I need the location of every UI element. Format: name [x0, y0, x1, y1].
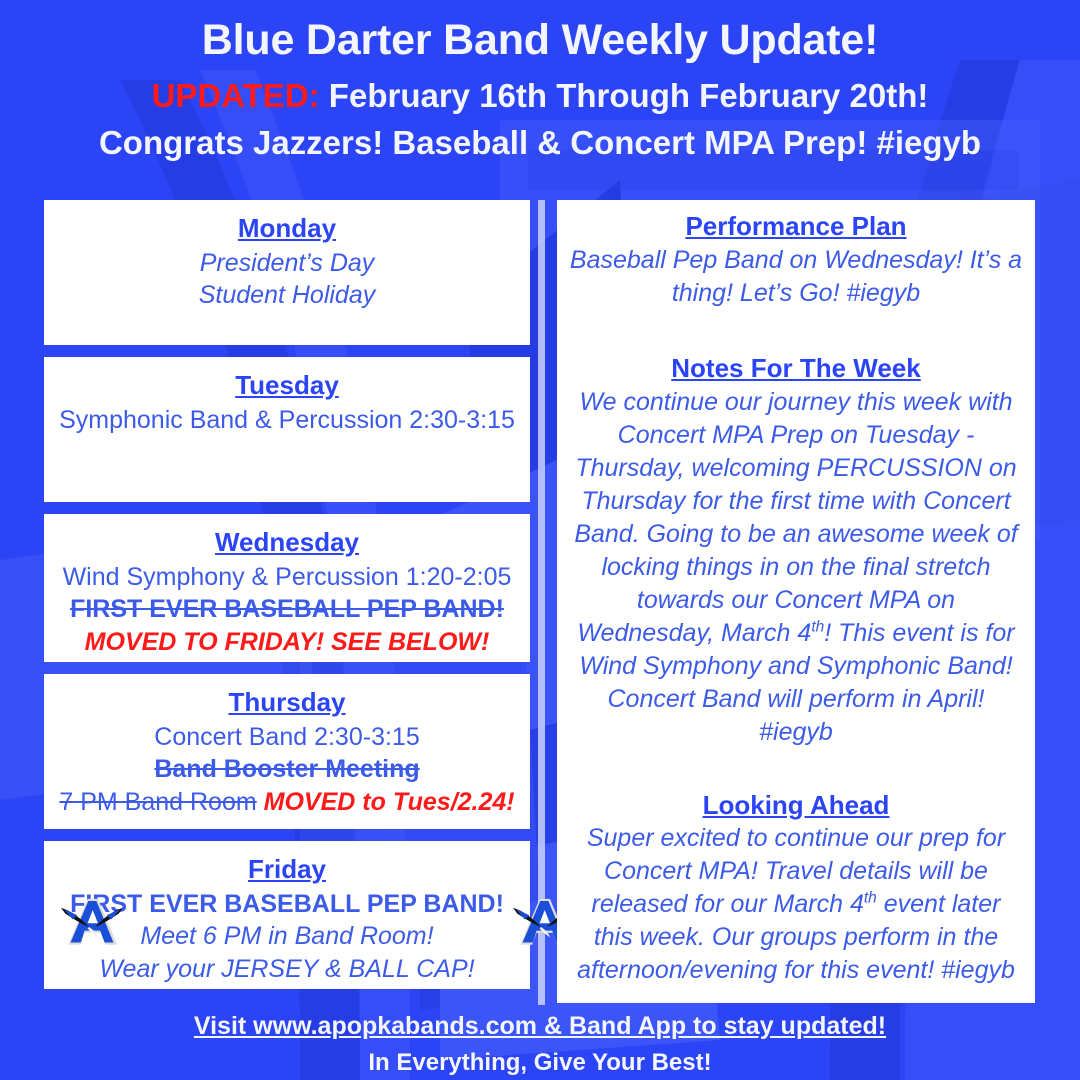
day-title-wednesday: Wednesday — [54, 526, 520, 559]
column-divider — [538, 200, 545, 1005]
section-title-performance-plan: Performance Plan — [569, 210, 1023, 244]
tuesday-line-1: Symphonic Band & Percussion 2:30-3:15 — [54, 404, 520, 437]
section-title-notes-for-the-week: Notes For The Week — [569, 352, 1023, 386]
monday-line-2: Student Holiday — [54, 279, 520, 312]
notes-column: Performance Plan Baseball Pep Band on We… — [557, 200, 1035, 1003]
section-body-notes-for-the-week: We continue our journey this week with C… — [569, 386, 1023, 749]
schedule-card-monday: Monday President’s Day Student Holiday — [44, 200, 530, 345]
wednesday-line-1: Wind Symphony & Percussion 1:20-2:05 — [54, 561, 520, 594]
thursday-line-3: 7 PM Band Room MOVED to Tues/2.24! — [54, 786, 520, 819]
looking-ahead-ordinal-suffix: th — [864, 890, 877, 907]
footer-website-link[interactable]: Visit www.apopkabands.com & Band App to … — [0, 1010, 1080, 1043]
schedule-card-thursday: Thursday Concert Band 2:30-3:15 Band Boo… — [44, 674, 530, 829]
apopka-a-logo-icon-left — [54, 887, 130, 961]
thursday-line-1: Concert Band 2:30-3:15 — [54, 721, 520, 754]
day-title-tuesday: Tuesday — [54, 369, 520, 402]
schedule-card-wednesday: Wednesday Wind Symphony & Percussion 1:2… — [44, 514, 530, 662]
poster-footer: Visit www.apopkabands.com & Band App to … — [0, 1010, 1080, 1078]
poster-canvas: Blue Darter Band Weekly Update! UPDATED:… — [0, 0, 1080, 1080]
day-title-friday: Friday — [54, 853, 520, 886]
section-body-looking-ahead: Super excited to continue our prep for C… — [569, 822, 1023, 987]
section-title-looking-ahead: Looking Ahead — [569, 789, 1023, 823]
weekly-schedule-column: Monday President’s Day Student Holiday T… — [44, 200, 530, 1001]
spacer-1 — [569, 310, 1023, 352]
spacer-2 — [569, 749, 1023, 789]
header-date-line: UPDATED: February 16th Through February … — [0, 75, 1080, 116]
header-tagline: Congrats Jazzers! Baseball & Concert MPA… — [0, 122, 1080, 163]
monday-line-1: President’s Day — [54, 247, 520, 280]
date-range: February 16th Through February 20th! — [320, 77, 929, 114]
wednesday-line-2-cancelled: FIRST EVER BASEBALL PEP BAND! — [54, 593, 520, 626]
wednesday-line-3-alert: MOVED TO FRIDAY! SEE BELOW! — [54, 626, 520, 659]
poster-header: Blue Darter Band Weekly Update! UPDATED:… — [0, 0, 1080, 164]
notes-ordinal-suffix: th — [811, 618, 824, 635]
day-title-thursday: Thursday — [54, 686, 520, 719]
thursday-line-2-cancelled: Band Booster Meeting — [54, 753, 520, 786]
notes-text-part1: We continue our journey this week with C… — [574, 388, 1017, 647]
footer-motto: In Everything, Give Your Best! — [0, 1047, 1080, 1078]
schedule-card-friday: Friday FIRST EVER BASEBALL PEP BAND! Mee… — [44, 841, 530, 989]
schedule-card-tuesday: Tuesday Symphonic Band & Percussion 2:30… — [44, 357, 530, 502]
page-title: Blue Darter Band Weekly Update! — [0, 18, 1080, 63]
thursday-line-3-cancelled: 7 PM Band Room — [59, 788, 256, 816]
day-title-monday: Monday — [54, 212, 520, 245]
section-body-performance-plan: Baseball Pep Band on Wednesday! It’s a t… — [569, 244, 1023, 310]
updated-label: UPDATED: — [152, 77, 320, 114]
thursday-line-3-alert: MOVED to Tues/2.24! — [257, 788, 515, 816]
